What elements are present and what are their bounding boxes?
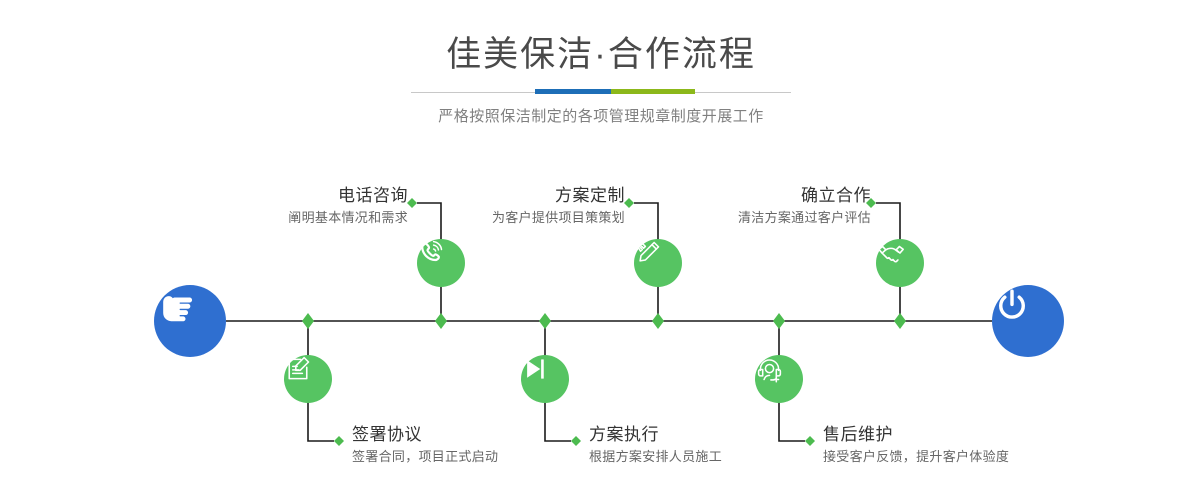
- timeline-diamond: [435, 313, 447, 329]
- step-title: 确立合作: [738, 185, 871, 208]
- label-diamond: [334, 436, 344, 446]
- step-desc: 接受客户反馈，提升客户体验度: [823, 447, 1009, 467]
- step-desc: 签署合同，项目正式启动: [352, 447, 498, 467]
- step-desc: 清洁方案通过客户评估: [738, 208, 871, 228]
- step-title: 方案定制: [492, 185, 625, 208]
- step-label-6: 售后维护 接受客户反馈，提升客户体验度: [823, 424, 1009, 466]
- label-diamond: [571, 436, 581, 446]
- flow-diagram: 电话咨询 阐明基本情况和需求 方案定制 为客户提供项目策策划: [0, 0, 1202, 502]
- step-desc: 根据方案安排人员施工: [589, 447, 722, 467]
- step-icon-3[interactable]: [634, 239, 682, 287]
- step-icon-2[interactable]: [284, 355, 332, 403]
- step-icon-1[interactable]: [417, 239, 465, 287]
- step-label-5: 确立合作 清洁方案通过客户评估: [738, 185, 871, 227]
- step-icon-6[interactable]: [755, 355, 803, 403]
- pointing-hand-icon: [154, 285, 196, 327]
- label-diamonds: [334, 198, 876, 446]
- step-label-4: 方案执行 根据方案安排人员施工: [589, 424, 722, 466]
- step-desc: 阐明基本情况和需求: [288, 208, 408, 228]
- play-skip-icon: [521, 355, 549, 383]
- phone-call-icon: [417, 239, 445, 267]
- label-diamond: [805, 436, 815, 446]
- cooperation-flow-infographic: 佳美保洁·合作流程 严格按照保洁制定的各项管理规章制度开展工作: [0, 0, 1202, 502]
- timeline-diamond: [302, 313, 314, 329]
- headset-support-icon: [755, 355, 784, 384]
- timeline-diamond: [539, 313, 551, 329]
- flow-end-node[interactable]: [992, 285, 1064, 357]
- handshake-icon: [876, 239, 906, 269]
- step-label-3: 方案定制 为客户提供项目策策划: [492, 185, 625, 227]
- step-title: 电话咨询: [288, 185, 408, 208]
- step-title: 方案执行: [589, 424, 722, 447]
- step-label-1: 电话咨询 阐明基本情况和需求: [288, 185, 408, 227]
- timeline-diamond: [894, 313, 906, 329]
- power-button-icon: [992, 285, 1032, 325]
- step-title: 签署协议: [352, 424, 498, 447]
- step-desc: 为客户提供项目策策划: [492, 208, 625, 228]
- step-title: 售后维护: [823, 424, 1009, 447]
- step-icon-5[interactable]: [876, 239, 924, 287]
- pencil-ruler-icon: [634, 239, 662, 267]
- document-pen-icon: [284, 355, 312, 383]
- label-diamond: [407, 198, 417, 208]
- flow-start-node[interactable]: [154, 285, 226, 357]
- timeline-diamond: [652, 313, 664, 329]
- step-icon-4[interactable]: [521, 355, 569, 403]
- label-diamond: [624, 198, 634, 208]
- timeline-diamond: [773, 313, 785, 329]
- step-label-2: 签署协议 签署合同，项目正式启动: [352, 424, 498, 466]
